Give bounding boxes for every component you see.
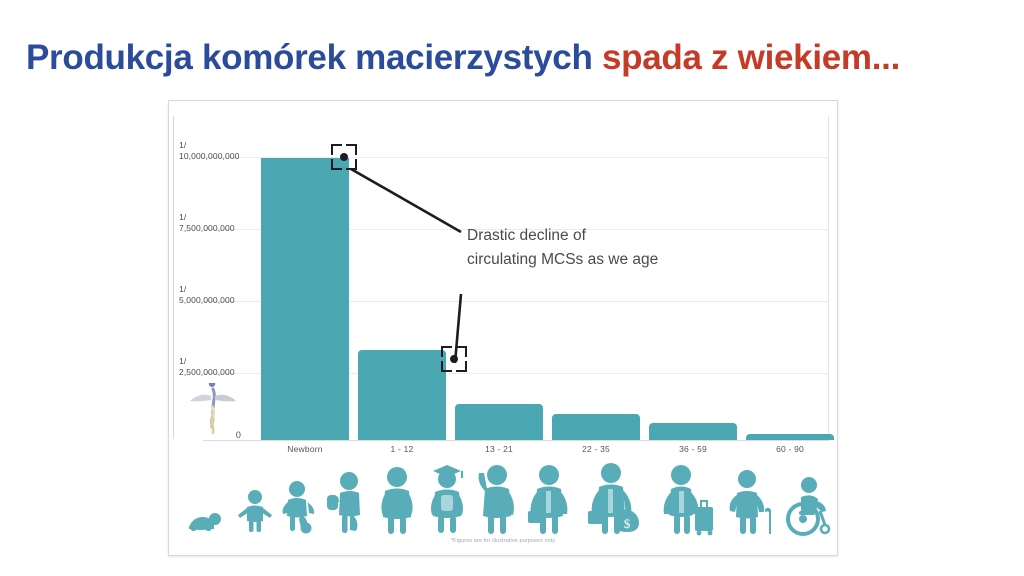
- elderly-cane-icon: [730, 470, 771, 534]
- teenager-icon: [381, 467, 412, 534]
- child-with-ball-icon: [283, 481, 315, 534]
- data-marker-newborn[interactable]: [331, 144, 357, 170]
- bar-newborn[interactable]: [261, 158, 349, 440]
- data-marker-1-12[interactable]: [441, 346, 467, 372]
- wheelchair-user-icon: [788, 477, 829, 534]
- page-title-accent: spada z wiekiem...: [602, 38, 900, 77]
- page-title-main: Produkcja komórek macierzystych: [26, 38, 602, 77]
- life-stages-pictogram: $: [175, 449, 833, 537]
- svg-text:$: $: [624, 516, 631, 531]
- x-axis-baseline: [203, 440, 829, 441]
- winged-figure-icon: [189, 383, 237, 435]
- crawling-baby-icon: [189, 513, 221, 531]
- bar-36-59[interactable]: [649, 423, 737, 440]
- plot-right-border: [828, 116, 829, 439]
- bar-13-21[interactable]: [455, 404, 543, 440]
- traveler-suitcase-icon: [664, 465, 713, 535]
- bar-60-90[interactable]: [746, 434, 834, 440]
- y-axis-line: [173, 116, 174, 439]
- page-title: Produkcja komórek macierzystych spada z …: [26, 38, 1006, 78]
- annotation-line-2: circulating MCSs as we age: [467, 248, 737, 272]
- bar-1-12[interactable]: [358, 350, 446, 440]
- chart-plot-area: 1/ 10,000,000,000 1/ 7,500,000,000 1/ 5,…: [173, 116, 835, 441]
- chart-card: 1/ 10,000,000,000 1/ 7,500,000,000 1/ 5,…: [168, 100, 838, 556]
- graduate-icon: [431, 465, 463, 533]
- chart-annotation: Drastic decline of circulating MCSs as w…: [467, 224, 737, 272]
- bar-22-35[interactable]: [552, 414, 640, 440]
- young-adult-raised-arm-icon: [479, 465, 514, 534]
- chart-footnote: *Figures are for illustrative purposes o…: [169, 538, 837, 544]
- businessman-money-icon: $: [588, 463, 639, 534]
- annotation-line-1: Drastic decline of: [467, 224, 737, 248]
- toddler-icon: [238, 490, 272, 532]
- worker-briefcase-icon: [528, 465, 567, 534]
- schoolkid-backpack-icon: [327, 472, 360, 533]
